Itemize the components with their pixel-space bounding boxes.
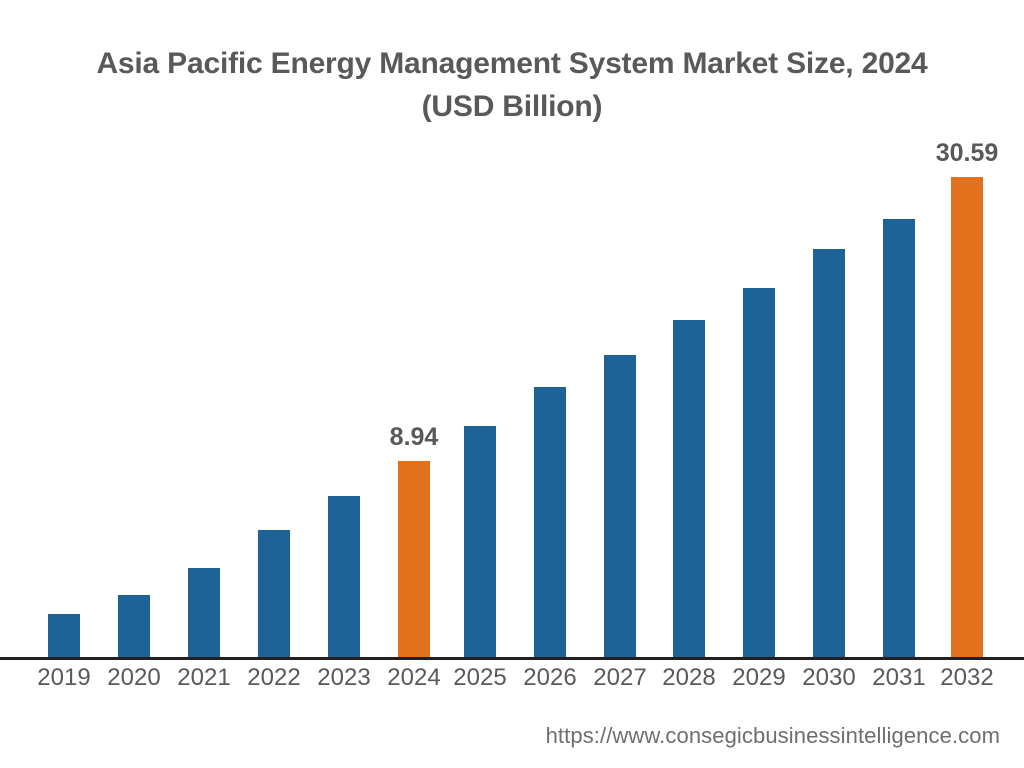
x-tick-label-2023: 2023: [304, 664, 384, 692]
x-tick-label-2030: 2030: [789, 664, 869, 692]
x-tick-label-2028: 2028: [649, 664, 729, 692]
chart-title-line-1: Asia Pacific Energy Management System Ma…: [0, 42, 1024, 85]
chart-title: Asia Pacific Energy Management System Ma…: [0, 42, 1024, 128]
x-tick-label-2026: 2026: [510, 664, 590, 692]
x-tick-label-2027: 2027: [580, 664, 660, 692]
bar-2023: [328, 496, 360, 657]
x-tick-label-2019: 2019: [24, 664, 104, 692]
plot-area: [0, 140, 1024, 658]
bar-2030: [813, 249, 845, 657]
bar-chart: Asia Pacific Energy Management System Ma…: [0, 0, 1024, 768]
x-tick-label-2022: 2022: [234, 664, 314, 692]
bar-2026: [534, 387, 566, 657]
bar-2021: [188, 568, 220, 657]
x-tick-label-2025: 2025: [440, 664, 520, 692]
x-axis-tick-labels: 2019202020212022202320242025202620272028…: [0, 664, 1024, 704]
bar-2019: [48, 614, 80, 657]
bar-value-label-2024: 8.94: [390, 423, 439, 452]
x-tick-label-2021: 2021: [164, 664, 244, 692]
x-axis-line: [0, 657, 1024, 660]
chart-title-line-2: (USD Billion): [0, 85, 1024, 128]
bar-2032: 30.59: [951, 177, 983, 657]
bar-value-label-2032: 30.59: [936, 139, 999, 168]
x-tick-label-2029: 2029: [719, 664, 799, 692]
bar-2027: [604, 355, 636, 657]
bar-2024: 8.94: [398, 461, 430, 657]
x-tick-label-2032: 2032: [927, 664, 1007, 692]
bar-2020: [118, 595, 150, 657]
x-tick-label-2020: 2020: [94, 664, 174, 692]
bar-2025: [464, 426, 496, 657]
source-url[interactable]: https://www.consegicbusinessintelligence…: [546, 723, 1000, 749]
bar-2031: [883, 219, 915, 657]
bar-2028: [673, 320, 705, 657]
bar-2022: [258, 530, 290, 657]
bar-2029: [743, 288, 775, 657]
